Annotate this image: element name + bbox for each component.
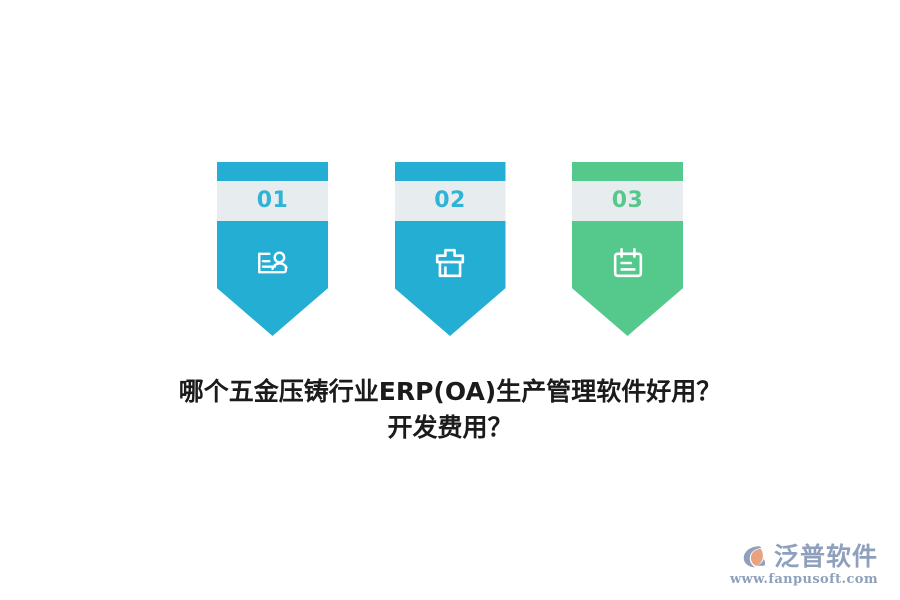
store-building-icon <box>428 241 472 285</box>
fanpu-swoosh-logo-icon <box>740 541 770 571</box>
id-card-person-icon <box>251 241 295 285</box>
banner-icon-area <box>572 221 683 336</box>
banner-icon-area <box>217 221 328 336</box>
poster-canvas: 01 02 <box>0 0 900 600</box>
brand-name: 泛普软件 <box>774 544 878 569</box>
brand-logo: 泛普软件 www.fanpusoft.com <box>730 541 878 586</box>
page-title: 哪个五金压铸行业ERP(OA)生产管理软件好用？ 开发费用？ <box>0 374 900 445</box>
banner-top-strip <box>395 162 506 181</box>
banner-number: 01 <box>257 190 289 212</box>
banner-top-strip <box>572 162 683 181</box>
brand-logo-row: 泛普软件 <box>740 541 878 571</box>
banner-01[interactable]: 01 <box>217 162 328 336</box>
banner-number-band: 01 <box>217 181 328 221</box>
banner-group: 01 02 <box>217 162 683 336</box>
banner-number: 03 <box>612 190 644 212</box>
banner-number: 02 <box>434 190 466 212</box>
banner-top-strip <box>217 162 328 181</box>
banner-number-band: 02 <box>395 181 506 221</box>
brand-url: www.fanpusoft.com <box>730 573 878 586</box>
banner-number-band: 03 <box>572 181 683 221</box>
banner-02[interactable]: 02 <box>395 162 506 336</box>
banner-icon-area <box>395 221 506 336</box>
banner-03[interactable]: 03 <box>572 162 683 336</box>
notepad-lines-icon <box>606 241 650 285</box>
